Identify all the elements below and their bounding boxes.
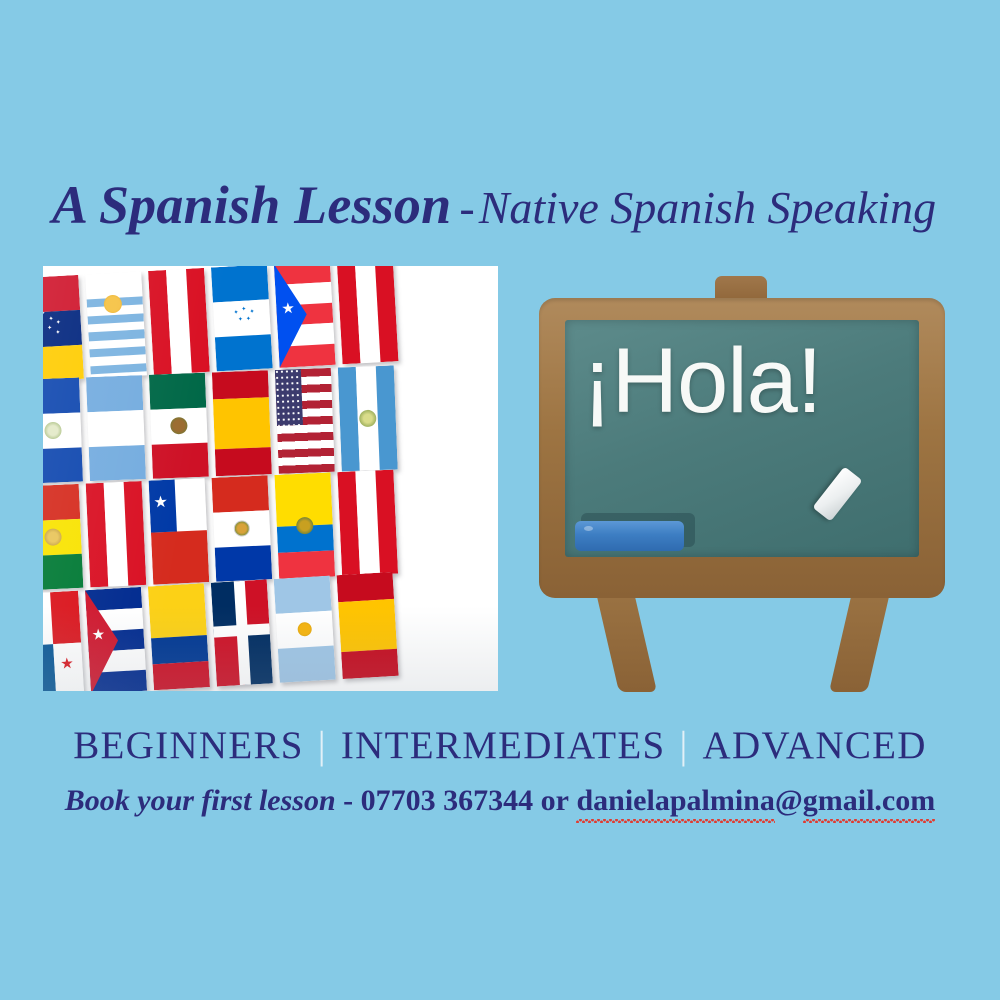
board-leg-right [829,588,891,692]
flag-paraguay [212,475,273,581]
title-tagline: Native Spanish Speaking [479,182,936,233]
contact-line: Book your first lesson - 07703 367344 or… [0,784,1000,818]
flag-ecuador [274,472,335,578]
flag-el-salvador [43,377,83,483]
flag-uruguay [85,271,147,378]
flags-image: ✦ ✦ ✦ ✦ ✦ [43,266,498,691]
flag-panama: ★ ★ [43,591,84,691]
contact-phone[interactable]: 07703 367344 [361,784,534,817]
level-separator: | [304,724,341,767]
poster-canvas: A Spanish Lesson-Native Spanish Speaking… [0,0,1000,1000]
email-at-symbol: @ [775,784,803,817]
email-local-part: danielapalmina [576,784,774,818]
blackboard-emoji: ¡Hola! [533,276,953,694]
board-eraser [575,521,684,551]
level-beginners: BEGINNERS [73,724,304,767]
flag-guatemala [338,365,398,471]
flag-peru [148,268,210,375]
chalk-stick-icon [812,466,862,521]
flag-argentina [86,375,146,481]
title-dash: - [451,182,478,233]
flag-bolivia [43,484,83,590]
flag-cuba: ★ [85,587,147,691]
contact-dash: - [343,784,353,817]
page-title: A Spanish Lesson-Native Spanish Speaking [52,178,962,232]
flag-spain [212,370,272,476]
flag-mexico [149,373,209,479]
level-advanced: ADVANCED [703,724,927,767]
levels-line: BEGINNERS|INTERMEDIATES|ADVANCED [0,723,1000,768]
flag-united-states [275,368,335,474]
board-frame: ¡Hola! [539,298,945,598]
level-intermediates: INTERMEDIATES [341,724,666,767]
flag-peru [337,470,398,576]
contact-conjunction: or [541,784,569,817]
flag-dominican-republic [211,579,273,686]
flag-colombia [148,583,210,690]
flag-venezuela: ✦ ✦ ✦ ✦ ✦ [43,275,84,382]
flag-argentina [274,576,336,683]
flag-puerto-rico: ★ [274,266,336,368]
board-leg-left [595,588,657,692]
flag-peru [86,481,147,587]
flag-spain [337,572,399,679]
board-surface: ¡Hola! [565,320,919,557]
level-separator: | [665,724,702,767]
board-chalk-text: ¡Hola! [582,333,821,430]
flag-chile: ★ [149,478,210,584]
title-brand: A Spanish Lesson [52,175,451,235]
contact-cta: Book your first lesson [65,784,336,817]
flag-honduras: ✦ ✦ ✦ ✦ ✦ [211,266,273,371]
email-domain-part: gmail.com [803,784,935,818]
flag-peru [337,266,399,364]
contact-email[interactable]: danielapalmina@gmail.com [576,784,935,817]
